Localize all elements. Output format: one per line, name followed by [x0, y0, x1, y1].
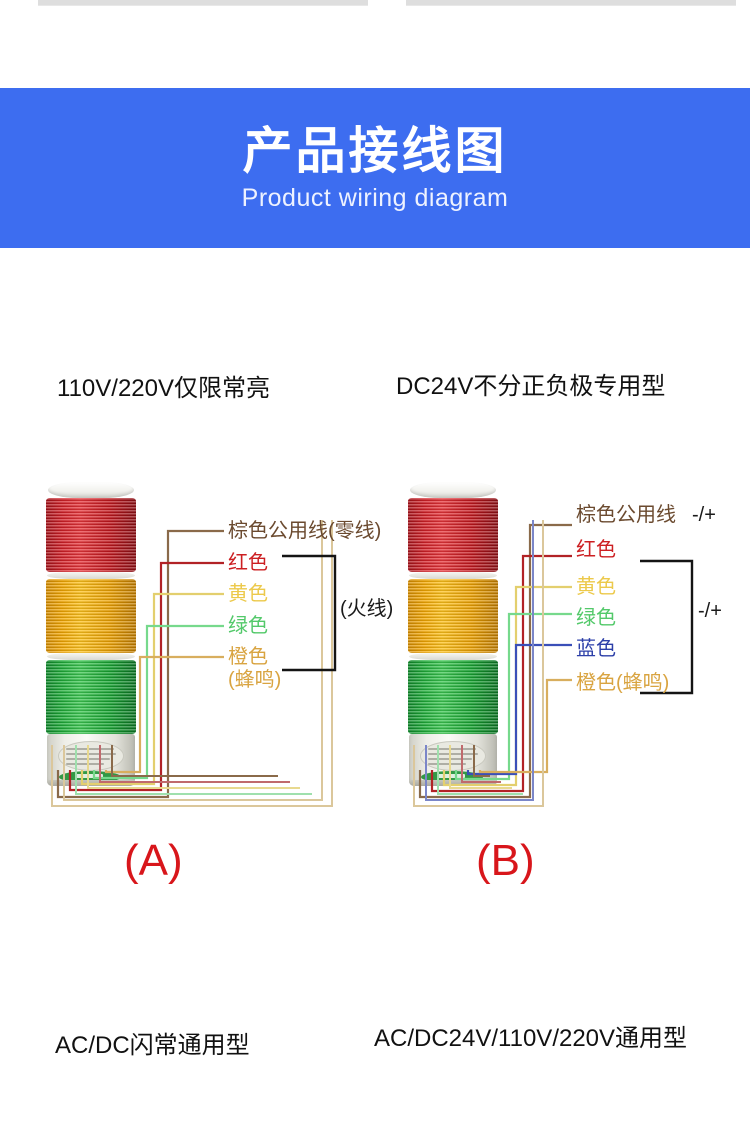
wire-a-sweep-6 [112, 745, 278, 776]
wire-label-b-orange: 橙色(蜂鸣) [576, 672, 669, 695]
polarity-label-b-common: -/+ [692, 504, 716, 527]
tower-b-segment-yellow [408, 579, 498, 653]
wire-label-b-red: 红色 [576, 539, 616, 562]
diagram-b-marker: (B) [476, 836, 535, 886]
wire-label-b-yellow: 黄色 [576, 576, 616, 599]
tower-b-segment-green [408, 660, 498, 734]
tower-b-spec-plate [420, 741, 486, 771]
diagram-b-top-caption: DC24V不分正负极专用型 [396, 366, 665, 401]
bracket-label-a: (火线) [340, 598, 393, 621]
wire-label-b-blue: 蓝色 [576, 638, 616, 661]
tower-a-base [47, 734, 135, 786]
wire-label-a-brown: 棕色公用线(零线) [228, 520, 381, 543]
wire-label-a-buzzer: (蜂鸣) [228, 669, 281, 692]
tower-a-cap [48, 482, 134, 498]
wire-label-b-brown: 棕色公用线 [576, 504, 676, 527]
tower-a-segment-yellow [46, 579, 136, 653]
top-strip-right [406, 0, 736, 6]
tower-a-ring-1 [47, 572, 135, 579]
banner-subtitle: Product wiring diagram [242, 185, 509, 213]
tower-b-ring-2 [409, 653, 497, 660]
tower-b-ring-1 [409, 572, 497, 579]
tower-b-cap [410, 482, 496, 498]
tower-a-ring-2 [47, 653, 135, 660]
wire-label-a-orange: 橙色 [228, 646, 268, 669]
tower-b-foot [409, 780, 497, 786]
wire-label-a-green: 绿色 [228, 615, 268, 638]
banner-title: 产品接线图 [243, 124, 508, 179]
top-strip-left [38, 0, 368, 6]
tower-a-segment-red [46, 498, 136, 572]
wire-label-a-red: 红色 [228, 552, 268, 575]
wire-label-b-green: 绿色 [576, 607, 616, 630]
tower-a-spec-plate [58, 741, 124, 771]
page-banner: 产品接线图 Product wiring diagram [0, 88, 750, 248]
tower-b-segment-red [408, 498, 498, 572]
wiring-diagram-page: 产品接线图 Product wiring diagram 110V/220V仅限… [0, 0, 750, 1123]
tower-a-foot [47, 780, 135, 786]
tower-light-a [46, 482, 136, 786]
diagram-a-marker: (A) [124, 836, 183, 886]
diagram-b-bottom-caption: AC/DC24V/110V/220V通用型 [374, 1018, 687, 1053]
tower-b-base [409, 734, 497, 786]
wire-label-a-yellow: 黄色 [228, 583, 268, 606]
tower-light-b [408, 482, 498, 786]
tower-a-segment-green [46, 660, 136, 734]
diagram-a-bottom-caption: AC/DC闪常通用型 [55, 1025, 250, 1060]
diagram-a-top-caption: 110V/220V仅限常亮 [57, 368, 270, 403]
bracket-a [282, 556, 335, 670]
bracket-label-b: -/+ [698, 600, 722, 623]
